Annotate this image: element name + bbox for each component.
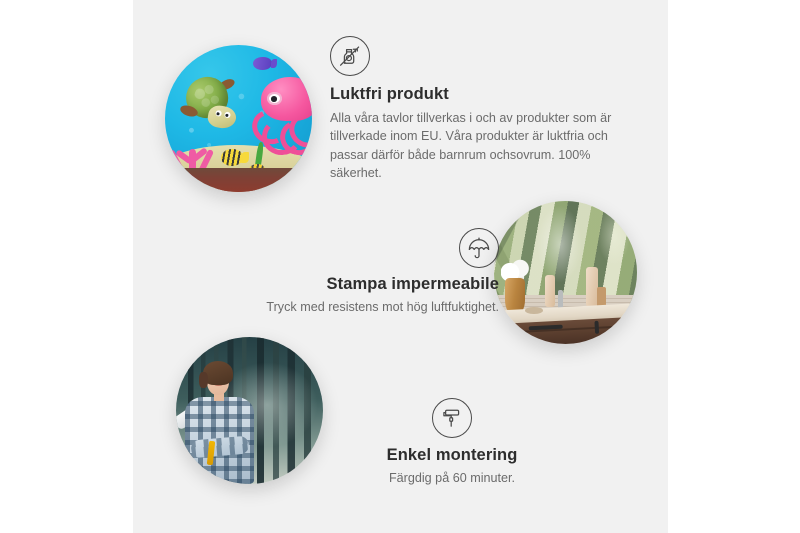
turtle-eye-left bbox=[214, 111, 221, 118]
photo-underwater-kids-mural bbox=[165, 45, 312, 192]
fish-yellow bbox=[221, 149, 243, 165]
promo-banner: Luktfri produkt Alla våra tavlor tillver… bbox=[0, 0, 800, 533]
photo-bathroom-tropical-wallpaper bbox=[494, 201, 637, 344]
hair bbox=[203, 361, 233, 385]
feature-easy-mounting: Enkel montering Färgdig på 60 minuter. bbox=[322, 398, 582, 487]
feature-description: Färgdig på 60 minuter. bbox=[322, 469, 582, 487]
umbrella-icon bbox=[459, 228, 499, 268]
feature-title: Luktfri produkt bbox=[330, 85, 626, 104]
feature-description: Tryck med resistens mot hög luftfuktighe… bbox=[216, 298, 499, 316]
drawer-seam bbox=[502, 324, 637, 333]
bathroom-scene bbox=[494, 201, 637, 344]
feature-icon-wrap bbox=[216, 228, 499, 268]
octopus bbox=[250, 77, 312, 148]
turtle-head bbox=[206, 104, 237, 131]
turtle-eye-right bbox=[223, 112, 230, 119]
photo-woman-with-paint-roller bbox=[176, 337, 323, 484]
forest-wallpaper-scene bbox=[176, 337, 323, 484]
feature-description: Alla våra tavlor tillverkas i och av pro… bbox=[330, 109, 626, 183]
paint-roller-icon bbox=[432, 398, 472, 438]
underwater-scene bbox=[165, 45, 312, 192]
cabinet-handle bbox=[625, 319, 630, 331]
bottle bbox=[545, 275, 555, 306]
soap-dish bbox=[525, 307, 542, 314]
floor-shadow-strip bbox=[165, 168, 312, 192]
feature-icon-wrap bbox=[322, 398, 582, 438]
no-fragrance-icon bbox=[330, 36, 370, 76]
feature-title: Stampa impermeabile bbox=[216, 275, 499, 294]
woman-figure bbox=[182, 363, 270, 484]
feature-icon-wrap bbox=[330, 36, 626, 76]
feature-odour-free: Luktfri produkt Alla våra tavlor tillver… bbox=[330, 36, 626, 183]
feature-waterproof-print: Stampa impermeabile Tryck med resistens … bbox=[216, 228, 499, 316]
octopus-head bbox=[261, 77, 312, 121]
octopus-eye bbox=[267, 92, 282, 105]
cabinet-handle bbox=[594, 321, 599, 333]
content-panel: Luktfri produkt Alla våra tavlor tillver… bbox=[133, 0, 668, 533]
sea-turtle bbox=[181, 77, 241, 133]
feature-title: Enkel montering bbox=[322, 446, 582, 465]
